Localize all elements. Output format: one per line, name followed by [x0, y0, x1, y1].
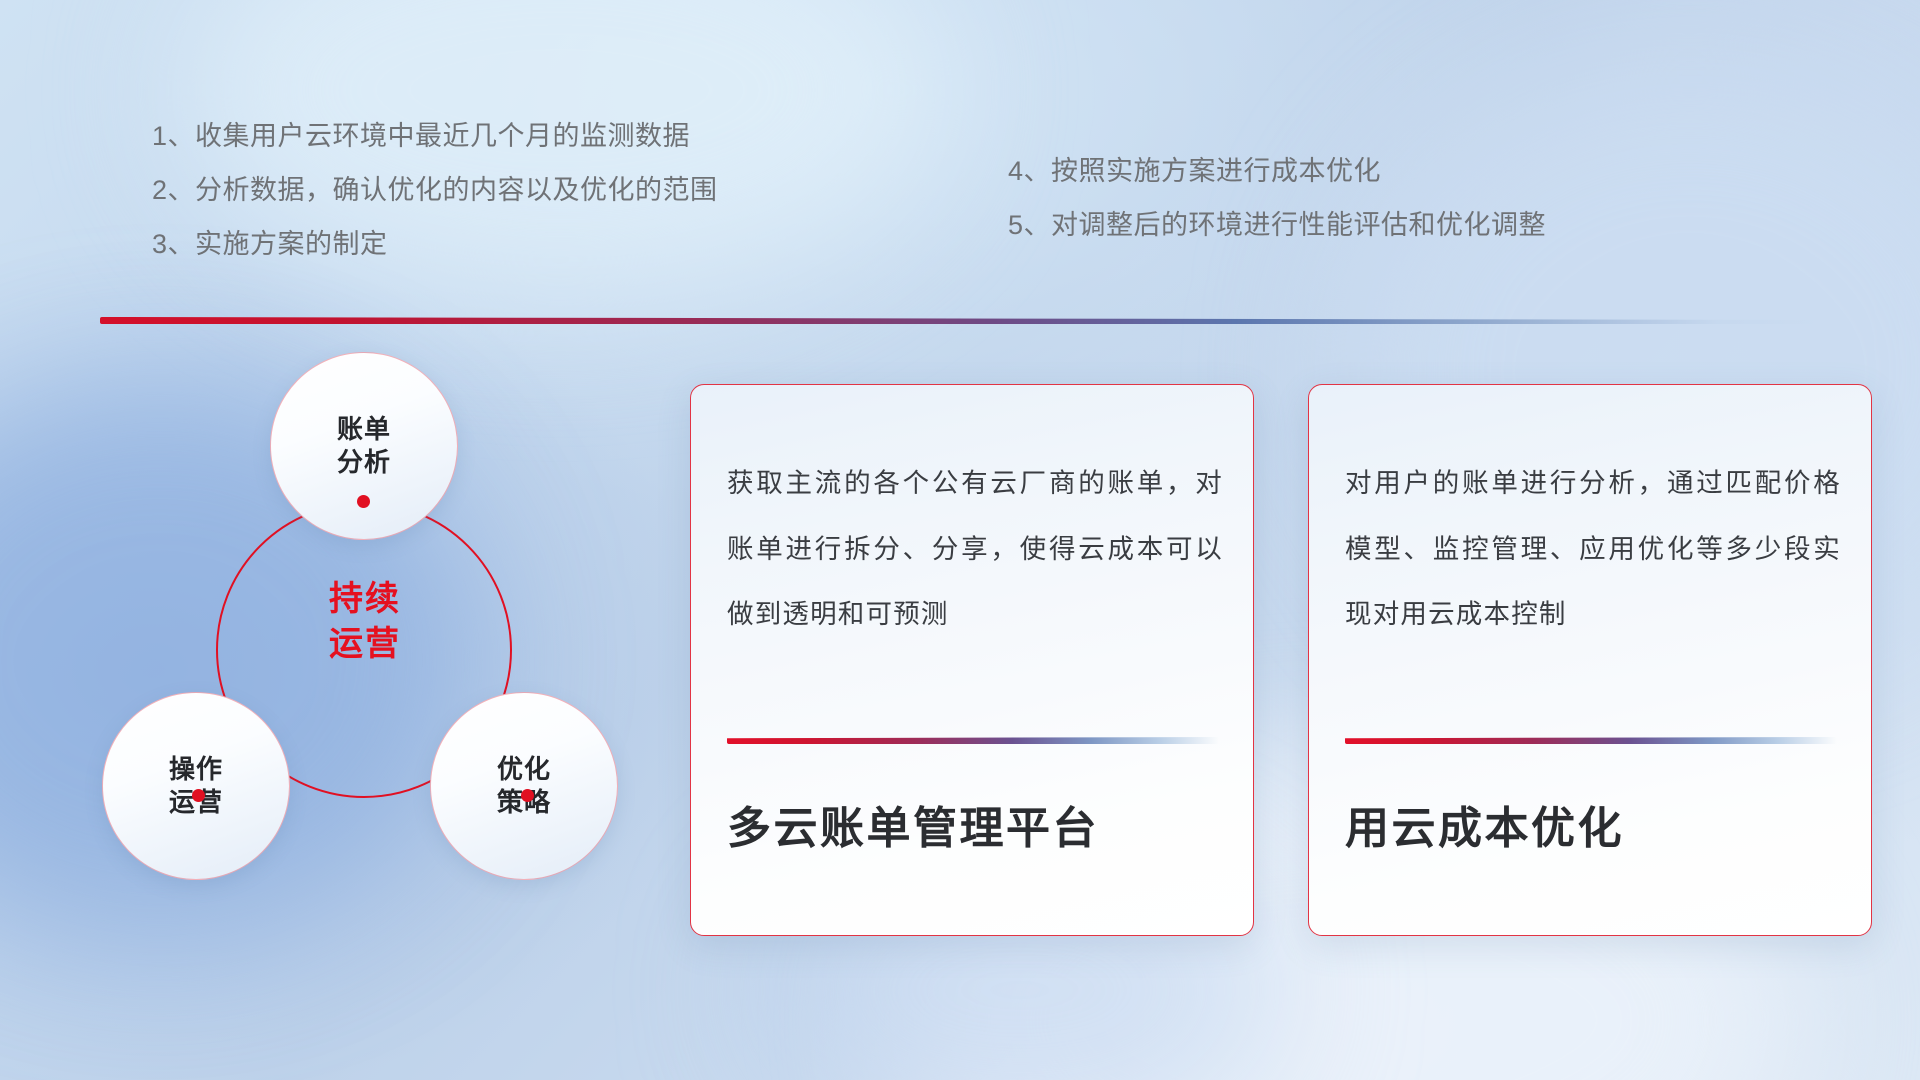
venn-bubble-bill-analysis-line1: 账单: [337, 413, 391, 446]
card-title: 多云账单管理平台: [727, 803, 1223, 856]
venn-center-label-line2: 运营: [285, 622, 445, 667]
venn-center-label: 持续 运营: [285, 577, 445, 667]
venn-node-dot-top: [357, 495, 370, 508]
venn-bubble-bill-analysis-line2: 分析: [337, 446, 391, 479]
card-title: 用云成本优化: [1345, 803, 1841, 856]
step-item-4: 4、按照实施方案进行成本优化: [1008, 158, 1546, 185]
venn-bubble-operations[interactable]: 操作 运营: [102, 692, 290, 880]
header-divider-rule: [100, 317, 1820, 324]
venn-bubble-optimization-strategy-line1: 优化: [497, 753, 551, 786]
venn-center-label-line1: 持续: [285, 577, 445, 622]
slide-canvas: 1、收集用户云环境中最近几个月的监测数据 2、分析数据，确认优化的内容以及优化的…: [0, 0, 1920, 1080]
venn-bubble-operations-line1: 操作: [169, 753, 223, 786]
card-body-text: 获取主流的各个公有云厂商的账单，对账单进行拆分、分享，使得云成本可以做到透明和可…: [727, 451, 1223, 648]
card-divider-rule: [1345, 737, 1837, 744]
step-item-2: 2、分析数据，确认优化的内容以及优化的范围: [152, 177, 718, 204]
info-card-multicloud-billing[interactable]: 获取主流的各个公有云厂商的账单，对账单进行拆分、分享，使得云成本可以做到透明和可…: [690, 384, 1254, 936]
venn-diagram: 账单 分析 操作 运营 优化 策略 持续 运营: [100, 352, 620, 932]
venn-node-dot-left: [192, 789, 205, 802]
venn-bubble-optimization-strategy[interactable]: 优化 策略: [430, 692, 618, 880]
steps-list-left: 1、收集用户云环境中最近几个月的监测数据 2、分析数据，确认优化的内容以及优化的…: [152, 123, 718, 285]
card-divider-rule: [727, 737, 1219, 744]
step-item-5: 5、对调整后的环境进行性能评估和优化调整: [1008, 212, 1546, 239]
step-item-3: 3、实施方案的制定: [152, 231, 718, 258]
info-card-cloud-cost-optimization[interactable]: 对用户的账单进行分析，通过匹配价格模型、监控管理、应用优化等多少段实现对用云成本…: [1308, 384, 1872, 936]
card-body-text: 对用户的账单进行分析，通过匹配价格模型、监控管理、应用优化等多少段实现对用云成本…: [1345, 451, 1841, 648]
step-item-1: 1、收集用户云环境中最近几个月的监测数据: [152, 123, 718, 150]
venn-bubble-bill-analysis[interactable]: 账单 分析: [270, 352, 458, 540]
venn-node-dot-right: [521, 789, 534, 802]
steps-list-right: 4、按照实施方案进行成本优化 5、对调整后的环境进行性能评估和优化调整: [1008, 158, 1546, 266]
